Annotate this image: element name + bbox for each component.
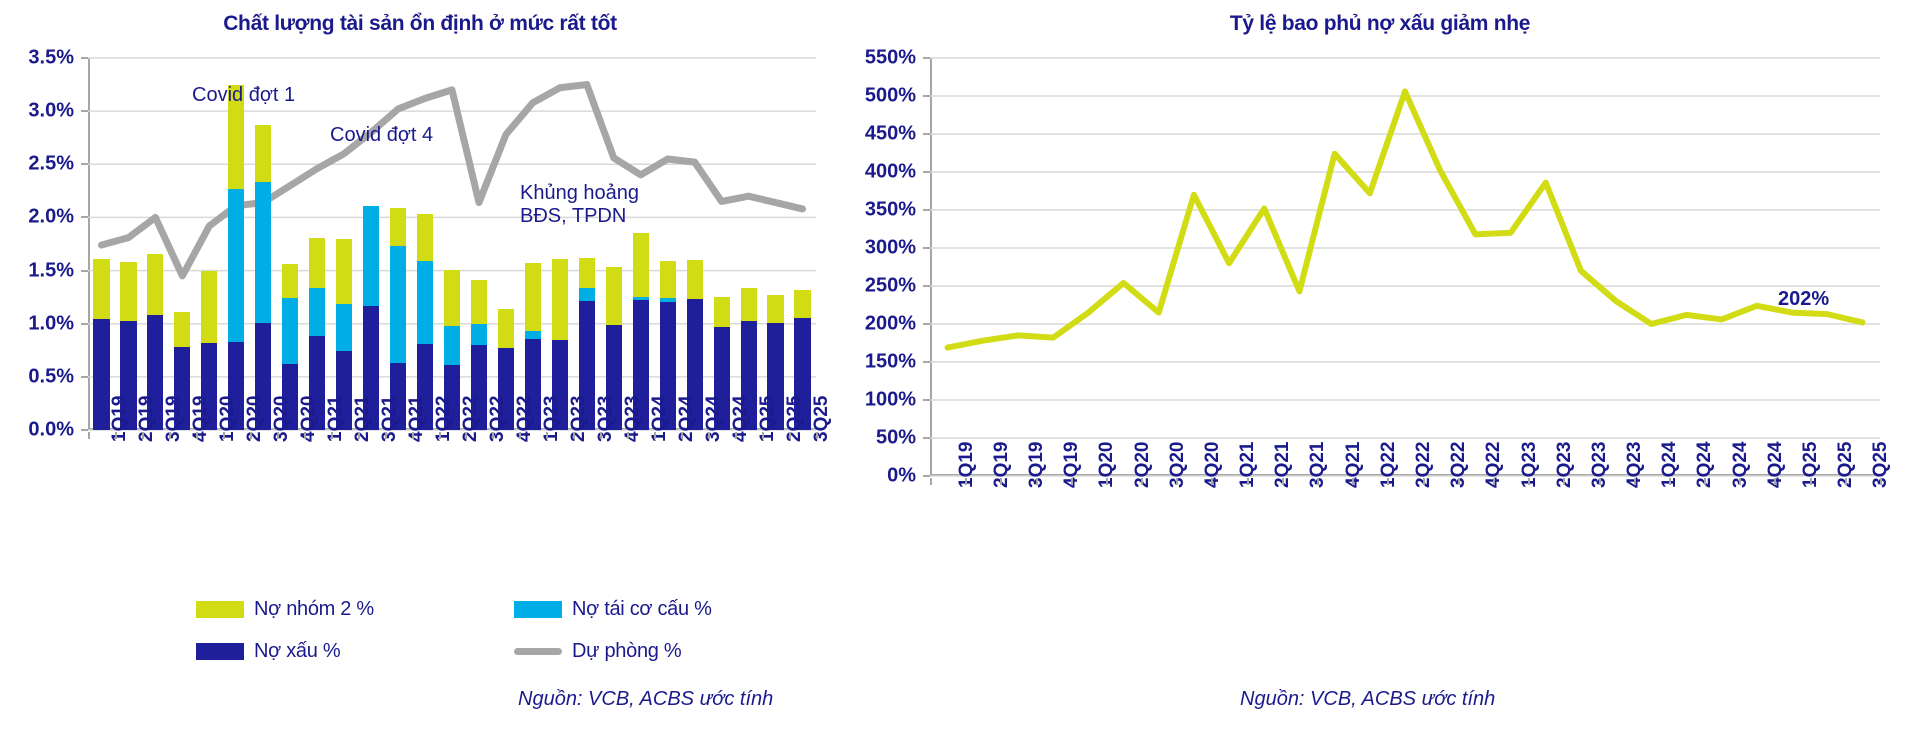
right-x-tick-mark bbox=[1880, 478, 1882, 485]
left-x-tick-mark bbox=[115, 432, 117, 439]
bar-segment-group2 bbox=[660, 261, 676, 298]
right-y-tick-label: 100% bbox=[865, 389, 916, 412]
bar-segment-restructured bbox=[228, 189, 244, 342]
legend-line-swatch-icon bbox=[514, 648, 562, 655]
right-x-tick-mark bbox=[1247, 478, 1249, 485]
legend-item-label: Nợ nhóm 2 % bbox=[254, 598, 374, 621]
left-y-tick-label: 1.5% bbox=[28, 259, 74, 282]
bar-segment-npl bbox=[93, 319, 109, 430]
right-y-tick-label: 150% bbox=[865, 351, 916, 374]
left-x-tick-mark bbox=[412, 432, 414, 439]
right-x-tick-mark bbox=[1000, 478, 1002, 485]
left-x-tick-mark bbox=[519, 432, 521, 439]
left-y-tick-mark bbox=[81, 429, 88, 431]
right-y-tick-mark bbox=[923, 323, 930, 325]
legend-color-swatch-icon bbox=[196, 643, 244, 660]
left-x-tick-mark bbox=[600, 432, 602, 439]
right-x-tick-mark bbox=[1634, 478, 1636, 485]
left-x-tick-mark bbox=[762, 432, 764, 439]
bar-segment-group2 bbox=[120, 262, 136, 320]
left-x-tick-mark bbox=[277, 432, 279, 439]
bar-segment-group2 bbox=[174, 312, 190, 347]
legend-item-label: Nợ tái cơ cấu % bbox=[572, 598, 712, 621]
right-x-tick-mark bbox=[1071, 478, 1073, 485]
left-x-tick-mark bbox=[681, 432, 683, 439]
bar-segment-group2 bbox=[741, 288, 757, 321]
bar-segment-restructured bbox=[417, 261, 433, 344]
right-y-tick-label: 200% bbox=[865, 313, 916, 336]
bar-segment-group2 bbox=[525, 263, 541, 331]
bar-segment-group2 bbox=[147, 254, 163, 316]
left-x-tick-label: 4Q22 bbox=[514, 396, 536, 442]
right-y-tick-label: 350% bbox=[865, 199, 916, 222]
right-y-tick-mark bbox=[923, 95, 930, 97]
right-y-tick-mark bbox=[923, 285, 930, 287]
left-x-tick-mark bbox=[439, 432, 441, 439]
legend-item-label: Dự phòng % bbox=[572, 640, 681, 663]
left-x-tick-label: 3Q22 bbox=[487, 396, 509, 442]
left-x-tick-mark bbox=[789, 432, 791, 439]
left-x-tick-label: 3Q23 bbox=[595, 396, 617, 442]
bar-segment-restructured bbox=[444, 326, 460, 365]
left-annotation: Covid đợt 1 bbox=[192, 84, 295, 107]
left-source-note: Nguồn: VCB, ACBS ước tính bbox=[518, 688, 773, 711]
right-y-tick-mark bbox=[923, 247, 930, 249]
left-y-tick-label: 0.5% bbox=[28, 365, 74, 388]
legend-item[interactable]: Dự phòng % bbox=[514, 640, 681, 663]
left-x-tick-mark bbox=[573, 432, 575, 439]
bar-segment-restructured bbox=[390, 246, 406, 363]
left-legend: Nợ nhóm 2 %Nợ tái cơ cấu %Nợ xấu %Dự phò… bbox=[196, 598, 796, 668]
left-x-tick-label: 4Q23 bbox=[622, 396, 644, 442]
right-y-tick-label: 300% bbox=[865, 237, 916, 260]
right-y-tick-label: 50% bbox=[876, 427, 916, 450]
right-x-tick-mark bbox=[1704, 478, 1706, 485]
bar-segment-group2 bbox=[444, 270, 460, 326]
bar-segment-group2 bbox=[552, 259, 568, 340]
right-x-tick-mark bbox=[1176, 478, 1178, 485]
bar-segment-group2 bbox=[417, 214, 433, 261]
right-x-tick-mark bbox=[1282, 478, 1284, 485]
left-x-tick-mark bbox=[88, 432, 90, 439]
left-y-tick-mark bbox=[81, 163, 88, 165]
right-source-note: Nguồn: VCB, ACBS ước tính bbox=[1240, 688, 1495, 711]
left-x-tick-label: 1Q23 bbox=[541, 396, 563, 442]
right-x-tick-mark bbox=[1317, 478, 1319, 485]
left-x-tick-label: 2Q22 bbox=[460, 396, 482, 442]
right-y-tick-mark bbox=[923, 361, 930, 363]
right-y-tick-label: 250% bbox=[865, 275, 916, 298]
bar-segment-group2 bbox=[687, 260, 703, 299]
bar-segment-restructured bbox=[336, 304, 352, 352]
legend-item[interactable]: Nợ nhóm 2 % bbox=[196, 598, 374, 621]
left-x-tick-mark bbox=[465, 432, 467, 439]
right-y-tick-mark bbox=[923, 57, 930, 59]
right-y-tick-label: 400% bbox=[865, 161, 916, 184]
left-x-tick-mark bbox=[492, 432, 494, 439]
left-x-tick-mark bbox=[142, 432, 144, 439]
bar-segment-group2 bbox=[606, 267, 622, 324]
left-x-tick-label: 4Q20 bbox=[298, 396, 320, 442]
left-x-tick-mark bbox=[385, 432, 387, 439]
left-x-tick-mark bbox=[196, 432, 198, 439]
bar-segment-group2 bbox=[282, 264, 298, 298]
left-x-tick-label: 1Q25 bbox=[757, 396, 779, 442]
left-x-tick-mark bbox=[331, 432, 333, 439]
left-x-tick-mark bbox=[627, 432, 629, 439]
right-x-tick-mark bbox=[965, 478, 967, 485]
right-y-tick-label: 550% bbox=[865, 47, 916, 70]
left-x-tick-label: 3Q25 bbox=[811, 396, 833, 442]
right-x-tick-mark bbox=[1774, 478, 1776, 485]
left-x-tick-mark bbox=[304, 432, 306, 439]
left-y-tick-mark bbox=[81, 216, 88, 218]
left-x-tick-label: 4Q21 bbox=[406, 396, 428, 442]
left-x-tick-label: 1Q19 bbox=[109, 396, 131, 442]
right-chart-panel: Tỷ lệ bao phủ nợ xấu giảm nhẹ 0%50%100%1… bbox=[840, 0, 1920, 742]
legend-item[interactable]: Nợ tái cơ cấu % bbox=[514, 598, 712, 621]
left-x-tick-label: 2Q21 bbox=[352, 396, 374, 442]
bar-segment-group2 bbox=[498, 309, 514, 348]
right-x-tick-mark bbox=[1423, 478, 1425, 485]
bar-segment-group2 bbox=[93, 259, 109, 320]
right-y-tick-label: 0% bbox=[887, 465, 916, 488]
left-y-tick-label: 2.0% bbox=[28, 206, 74, 229]
bar-segment-restructured bbox=[633, 297, 649, 300]
left-x-tick-label: 2Q20 bbox=[244, 396, 266, 442]
left-y-tick-mark bbox=[81, 270, 88, 272]
chart-page: Chất lượng tài sản ổn định ở mức rất tốt… bbox=[0, 0, 1920, 742]
bar-segment-restructured bbox=[255, 182, 271, 322]
left-x-tick-label: 2Q25 bbox=[784, 396, 806, 442]
right-x-tick-mark bbox=[1106, 478, 1108, 485]
right-x-tick-mark bbox=[1599, 478, 1601, 485]
bar-segment-group2 bbox=[633, 233, 649, 297]
left-annotation: Khủng hoảng BĐS, TPDN bbox=[520, 182, 639, 228]
right-x-tick-mark bbox=[1352, 478, 1354, 485]
left-x-tick-label: 1Q24 bbox=[649, 396, 671, 442]
bar-segment-restructured bbox=[579, 288, 595, 302]
bar-segment-group2 bbox=[336, 239, 352, 304]
left-x-tick-mark bbox=[735, 432, 737, 439]
right-y-tick-mark bbox=[923, 133, 930, 135]
left-y-tick-label: 0.0% bbox=[28, 419, 74, 442]
right-y-tick-mark bbox=[923, 171, 930, 173]
right-x-tick-mark bbox=[1528, 478, 1530, 485]
right-x-tick-mark bbox=[1387, 478, 1389, 485]
left-chart-panel: Chất lượng tài sản ổn định ở mức rất tốt… bbox=[0, 0, 840, 742]
right-y-tick-mark bbox=[923, 399, 930, 401]
right-y-tick-mark bbox=[923, 475, 930, 477]
right-x-tick-mark bbox=[1563, 478, 1565, 485]
left-x-tick-mark bbox=[654, 432, 656, 439]
right-x-tick-mark bbox=[1458, 478, 1460, 485]
bar-segment-group2 bbox=[309, 238, 325, 288]
left-x-tick-mark bbox=[816, 432, 818, 439]
left-y-tick-mark bbox=[81, 57, 88, 59]
left-x-tick-label: 3Q21 bbox=[379, 396, 401, 442]
bar-segment-restructured bbox=[471, 324, 487, 345]
right-x-tick-mark bbox=[1036, 478, 1038, 485]
right-x-tick-mark bbox=[1141, 478, 1143, 485]
right-x-tick-mark bbox=[1739, 478, 1741, 485]
left-x-tick-label: 4Q24 bbox=[730, 396, 752, 442]
bar-segment-group2 bbox=[390, 208, 406, 246]
left-y-tick-mark bbox=[81, 323, 88, 325]
left-x-tick-mark bbox=[223, 432, 225, 439]
left-x-tick-label: 3Q19 bbox=[163, 396, 185, 442]
right-y-tick-label: 450% bbox=[865, 123, 916, 146]
right-y-tick-mark bbox=[923, 209, 930, 211]
left-x-tick-label: 3Q24 bbox=[703, 396, 725, 442]
left-x-tick-label: 1Q21 bbox=[325, 396, 347, 442]
bar-segment-group2 bbox=[794, 290, 810, 319]
right-last-value-label: 202% bbox=[1778, 288, 1829, 311]
bar-segment-group2 bbox=[471, 280, 487, 324]
left-y-tick-mark bbox=[81, 376, 88, 378]
left-y-tick-label: 1.0% bbox=[28, 312, 74, 335]
right-x-tick-mark bbox=[1493, 478, 1495, 485]
left-y-tick-label: 3.5% bbox=[28, 47, 74, 70]
left-x-tick-mark bbox=[546, 432, 548, 439]
right-x-tick-mark bbox=[1810, 478, 1812, 485]
right-x-tick-mark bbox=[1669, 478, 1671, 485]
bar-segment-group2 bbox=[714, 297, 730, 327]
right-y-tick-label: 500% bbox=[865, 85, 916, 108]
left-x-tick-label: 2Q24 bbox=[676, 396, 698, 442]
right-y-tick-mark bbox=[923, 437, 930, 439]
left-x-tick-mark bbox=[169, 432, 171, 439]
left-x-tick-label: 4Q19 bbox=[190, 396, 212, 442]
left-x-tick-label: 2Q23 bbox=[568, 396, 590, 442]
bar-segment-restructured bbox=[363, 206, 379, 306]
right-x-tick-mark bbox=[930, 478, 932, 485]
bar-segment-group2 bbox=[767, 295, 783, 323]
left-y-tick-label: 3.0% bbox=[28, 100, 74, 123]
bar-segment-group2 bbox=[201, 271, 217, 343]
bar-segment-group2 bbox=[579, 258, 595, 288]
left-annotation: Covid đợt 4 bbox=[330, 124, 433, 147]
left-x-tick-mark bbox=[250, 432, 252, 439]
bar-segment-group2 bbox=[255, 125, 271, 182]
bar-segment-restructured bbox=[282, 298, 298, 364]
left-y-tick-mark bbox=[81, 110, 88, 112]
legend-color-swatch-icon bbox=[514, 601, 562, 618]
bar-segment-restructured bbox=[525, 331, 541, 338]
left-x-tick-label: 3Q20 bbox=[271, 396, 293, 442]
right-chart-svg bbox=[840, 0, 1920, 742]
left-x-tick-label: 1Q22 bbox=[433, 396, 455, 442]
left-x-tick-mark bbox=[358, 432, 360, 439]
left-x-tick-mark bbox=[708, 432, 710, 439]
legend-color-swatch-icon bbox=[196, 601, 244, 618]
left-x-tick-label: 2Q19 bbox=[136, 396, 158, 442]
bar-segment-restructured bbox=[660, 298, 676, 302]
right-x-tick-mark bbox=[1211, 478, 1213, 485]
legend-item[interactable]: Nợ xấu % bbox=[196, 640, 340, 663]
right-x-tick-mark bbox=[1845, 478, 1847, 485]
left-y-tick-label: 2.5% bbox=[28, 153, 74, 176]
bar-segment-restructured bbox=[309, 288, 325, 337]
left-x-tick-label: 1Q20 bbox=[217, 396, 239, 442]
legend-item-label: Nợ xấu % bbox=[254, 640, 340, 663]
